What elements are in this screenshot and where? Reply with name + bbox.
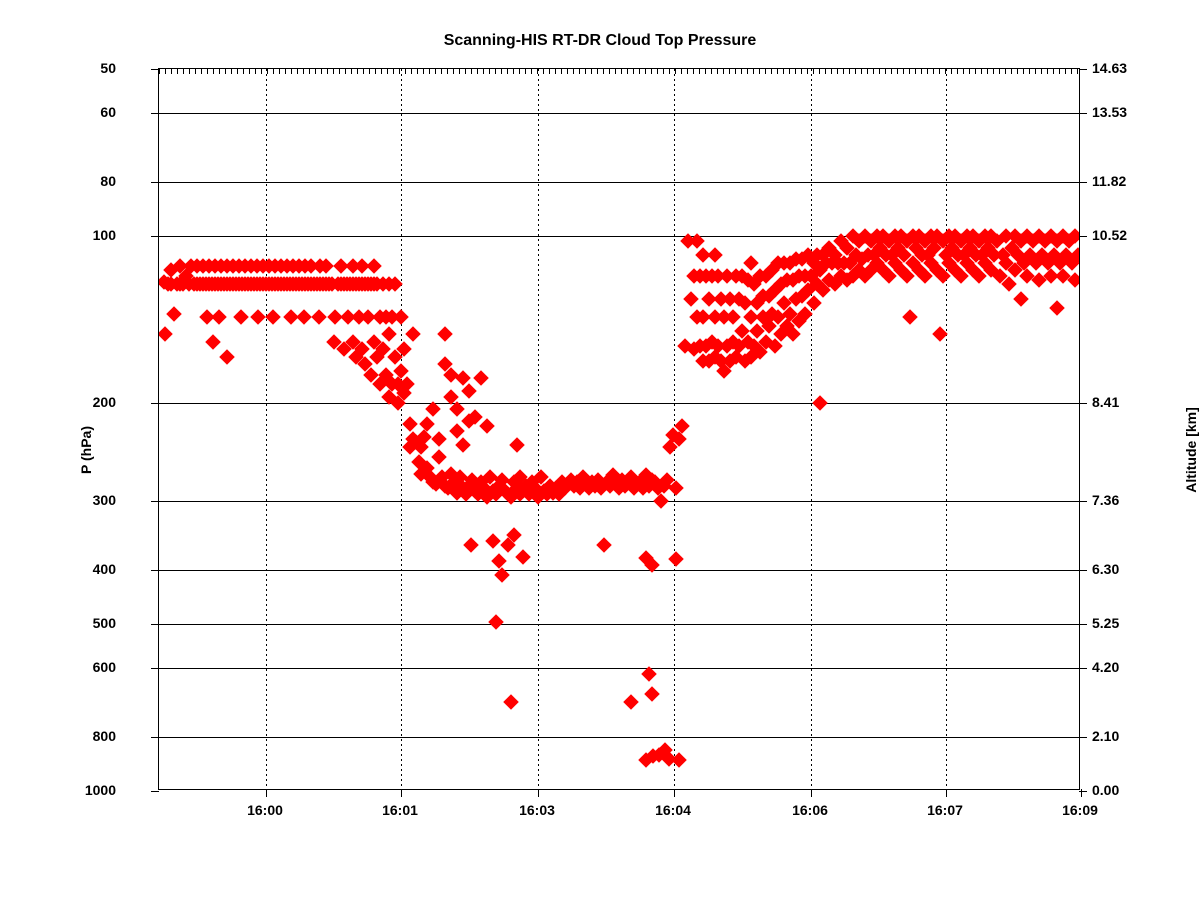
x-axis-minor-tick (429, 69, 430, 74)
x-axis-tick (674, 789, 675, 797)
x-axis-minor-tick (375, 69, 376, 74)
scatter-point (668, 551, 684, 567)
x-axis-minor-tick (933, 69, 934, 74)
y2-axis-tick (1079, 668, 1087, 669)
x-axis-minor-tick (549, 69, 550, 74)
x-axis-minor-tick (453, 69, 454, 74)
x-axis-minor-tick (525, 69, 526, 74)
x-axis-minor-tick (1029, 69, 1030, 74)
x-axis-minor-tick (231, 69, 232, 74)
x-axis-minor-tick (879, 69, 880, 74)
x-axis-minor-tick (573, 69, 574, 74)
x-axis-minor-tick (891, 69, 892, 74)
x-axis-minor-tick (741, 69, 742, 74)
x-axis-minor-tick (915, 69, 916, 74)
scatter-point (623, 694, 639, 710)
x-axis-minor-tick (1017, 69, 1018, 74)
x-axis-minor-tick (387, 69, 388, 74)
x-axis-minor-tick (939, 69, 940, 74)
y-axis-tick (151, 570, 159, 571)
y-axis-tick (151, 182, 159, 183)
x-axis-minor-tick (1005, 69, 1006, 74)
x-axis-minor-tick (225, 69, 226, 74)
scatter-point (494, 567, 510, 583)
x-axis-minor-tick (495, 69, 496, 74)
x-axis-minor-tick (693, 69, 694, 74)
x-axis-tick-label: 16:04 (655, 802, 691, 818)
x-axis-minor-tick (657, 69, 658, 74)
scatter-point (806, 295, 822, 311)
chart-figure: Scanning-HIS RT-DR Cloud Top Pressure P … (0, 0, 1200, 900)
x-axis-minor-tick (459, 69, 460, 74)
y-axis-tick (151, 737, 159, 738)
scatter-point (265, 309, 281, 325)
x-axis-minor-tick (1065, 69, 1066, 74)
scatter-point (431, 449, 447, 465)
x-axis-minor-tick (435, 69, 436, 74)
x-axis-minor-tick (957, 69, 958, 74)
x-axis-minor-tick (237, 69, 238, 74)
y-axis-tick-label: 50 (100, 60, 116, 76)
y2-axis-tick-label: 0.00 (1092, 782, 1119, 798)
x-axis-minor-tick (279, 69, 280, 74)
y2-axis-title: Altitude [km] (1183, 407, 1199, 493)
scatter-point (463, 537, 479, 553)
x-axis-minor-tick (753, 69, 754, 74)
x-axis-minor-tick (1011, 69, 1012, 74)
x-axis-minor-tick (717, 69, 718, 74)
scatter-point (644, 687, 660, 703)
x-axis-minor-tick (765, 69, 766, 74)
chart-title: Scanning-HIS RT-DR Cloud Top Pressure (0, 32, 1200, 50)
x-axis-minor-tick (987, 69, 988, 74)
y-axis-tick (151, 69, 159, 70)
x-axis-minor-tick (651, 69, 652, 74)
x-axis-minor-tick (969, 69, 970, 74)
y2-axis-tick-label: 13.53 (1092, 104, 1127, 120)
x-axis-minor-tick (201, 69, 202, 74)
x-axis-minor-tick (807, 69, 808, 74)
y2-axis-tick (1079, 236, 1087, 237)
scatter-point (1013, 292, 1029, 308)
x-axis-tick-label: 16:09 (1062, 802, 1098, 818)
x-axis-tick (1081, 789, 1082, 797)
x-axis-minor-tick (345, 69, 346, 74)
x-axis-tick-label: 16:03 (519, 802, 555, 818)
x-axis-minor-tick (1077, 69, 1078, 74)
x-axis-tick (538, 789, 539, 797)
x-axis-minor-tick (285, 69, 286, 74)
x-axis-minor-tick (303, 69, 304, 74)
x-axis-tick (401, 789, 402, 797)
scatter-point (402, 416, 418, 432)
y-axis-tick-label: 800 (93, 728, 116, 744)
x-axis-minor-tick (801, 69, 802, 74)
x-axis-minor-tick (165, 69, 166, 74)
x-axis-minor-tick (411, 69, 412, 74)
y2-axis-tick (1079, 403, 1087, 404)
x-axis-minor-tick (903, 69, 904, 74)
scatter-point (932, 326, 948, 342)
x-axis-minor-tick (339, 69, 340, 74)
scatter-point (405, 326, 421, 342)
x-axis-minor-tick (591, 69, 592, 74)
x-axis-minor-tick (579, 69, 580, 74)
x-axis-tick-label: 16:06 (792, 802, 828, 818)
y-axis-title: P (hPa) (78, 426, 94, 474)
x-axis-minor-tick (705, 69, 706, 74)
x-axis-tick (811, 789, 812, 797)
x-axis-minor-tick (777, 69, 778, 74)
x-axis-minor-tick (351, 69, 352, 74)
scatter-point (366, 258, 382, 274)
scatter-point (653, 493, 669, 509)
y-axis-tick-label: 100 (93, 227, 116, 243)
x-axis-minor-tick (501, 69, 502, 74)
scatter-point (725, 309, 741, 325)
scatter-point (902, 309, 918, 325)
x-axis-minor-tick (507, 69, 508, 74)
x-axis-minor-tick (489, 69, 490, 74)
y2-axis-tick (1079, 69, 1087, 70)
y2-axis-tick-label: 8.41 (1092, 394, 1119, 410)
x-axis-minor-tick (447, 69, 448, 74)
y-axis-tick-label: 300 (93, 492, 116, 508)
x-axis-minor-tick (357, 69, 358, 74)
scatter-point (485, 534, 501, 550)
x-axis-minor-tick (699, 69, 700, 74)
x-axis-minor-tick (171, 69, 172, 74)
scatter-point (488, 614, 504, 630)
x-axis-minor-tick (861, 69, 862, 74)
y-axis-tick-label: 60 (100, 104, 116, 120)
scatter-point (381, 326, 397, 342)
x-axis-minor-tick (519, 69, 520, 74)
x-axis-minor-tick (993, 69, 994, 74)
x-axis-minor-tick (369, 69, 370, 74)
x-axis-minor-tick (873, 69, 874, 74)
scatter-point (437, 326, 453, 342)
y2-axis-tick (1079, 113, 1087, 114)
scatter-point (743, 256, 759, 272)
x-axis-minor-tick (771, 69, 772, 74)
y-axis-tick (151, 403, 159, 404)
x-axis-minor-tick (1023, 69, 1024, 74)
scatter-point (211, 309, 227, 325)
x-axis-minor-tick (315, 69, 316, 74)
scatter-point (393, 309, 409, 325)
x-axis-minor-tick (831, 69, 832, 74)
y2-axis-tick (1079, 182, 1087, 183)
plot-area (158, 68, 1080, 790)
y2-axis-tick (1079, 570, 1087, 571)
x-axis-minor-tick (207, 69, 208, 74)
x-axis-minor-tick (261, 69, 262, 74)
x-axis-minor-tick (819, 69, 820, 74)
x-axis-minor-tick (621, 69, 622, 74)
x-axis-minor-tick (615, 69, 616, 74)
scatter-point (296, 309, 312, 325)
x-axis-minor-tick (243, 69, 244, 74)
y2-axis-tick-label: 4.20 (1092, 659, 1119, 675)
x-axis-minor-tick (951, 69, 952, 74)
scatter-point (596, 537, 612, 553)
y2-axis-tick (1079, 501, 1087, 502)
scatter-point (455, 437, 471, 453)
scatter-point (503, 694, 519, 710)
scatter-point (683, 292, 699, 308)
scatter-point (425, 401, 441, 417)
scatter-point (509, 437, 525, 453)
x-axis-minor-tick (687, 69, 688, 74)
y-axis-tick-label: 80 (100, 173, 116, 189)
x-axis-minor-tick (399, 69, 400, 74)
x-axis-minor-tick (249, 69, 250, 74)
x-axis-minor-tick (597, 69, 598, 74)
scatter-point (419, 416, 435, 432)
y2-axis-tick-label: 6.30 (1092, 561, 1119, 577)
y-axis-tick-label: 400 (93, 561, 116, 577)
scatter-point (431, 431, 447, 447)
x-axis-minor-tick (723, 69, 724, 74)
x-axis-tick-label: 16:00 (247, 802, 283, 818)
x-axis-minor-tick (897, 69, 898, 74)
scatter-point (641, 666, 657, 682)
y2-axis-tick-label: 14.63 (1092, 60, 1127, 76)
x-axis-minor-tick (195, 69, 196, 74)
x-axis-minor-tick (381, 69, 382, 74)
y2-axis-tick-label: 11.82 (1092, 173, 1126, 189)
scatter-point (515, 549, 531, 565)
scatter-point (479, 418, 495, 434)
scatter-point (205, 334, 221, 350)
x-axis-minor-tick (273, 69, 274, 74)
x-axis-minor-tick (795, 69, 796, 74)
x-axis-minor-tick (675, 69, 676, 74)
y2-axis-tick-label: 10.52 (1092, 227, 1127, 243)
x-axis-minor-tick (849, 69, 850, 74)
x-axis-minor-tick (1053, 69, 1054, 74)
y-axis-tick-label: 1000 (85, 782, 116, 798)
x-axis-minor-tick (393, 69, 394, 74)
x-axis-minor-tick (309, 69, 310, 74)
x-axis-minor-tick (267, 69, 268, 74)
x-axis-minor-tick (363, 69, 364, 74)
x-axis-minor-tick (855, 69, 856, 74)
y-axis-tick (151, 624, 159, 625)
x-axis-minor-tick (867, 69, 868, 74)
scatter-point (233, 309, 249, 325)
scatter-point (812, 395, 828, 411)
x-axis-minor-tick (465, 69, 466, 74)
scatter-point (159, 326, 173, 342)
y-axis-tick (151, 236, 159, 237)
scatter-point (219, 349, 235, 365)
x-axis-minor-tick (513, 69, 514, 74)
x-axis-minor-tick (1041, 69, 1042, 74)
x-axis-minor-tick (333, 69, 334, 74)
x-axis-minor-tick (417, 69, 418, 74)
x-axis-minor-tick (711, 69, 712, 74)
x-axis-tick (266, 789, 267, 797)
x-axis-minor-tick (405, 69, 406, 74)
x-axis-minor-tick (645, 69, 646, 74)
x-axis-minor-tick (291, 69, 292, 74)
x-axis-minor-tick (759, 69, 760, 74)
y-axis-tick-label: 500 (93, 615, 116, 631)
scatter-point (1049, 301, 1065, 317)
x-axis-minor-tick (471, 69, 472, 74)
y-axis-tick-label: 600 (93, 659, 116, 675)
x-axis-minor-tick (297, 69, 298, 74)
scatter-point (473, 370, 489, 386)
x-axis-minor-tick (921, 69, 922, 74)
x-axis-tick-label: 16:07 (927, 802, 963, 818)
x-axis-minor-tick (735, 69, 736, 74)
x-axis-minor-tick (639, 69, 640, 74)
x-axis-minor-tick (555, 69, 556, 74)
x-axis-minor-tick (567, 69, 568, 74)
x-axis-minor-tick (975, 69, 976, 74)
x-axis-minor-tick (483, 69, 484, 74)
x-axis-minor-tick (783, 69, 784, 74)
x-axis-minor-tick (213, 69, 214, 74)
scatter-point (491, 553, 507, 569)
y-axis-tick (151, 113, 159, 114)
scatter-point (461, 383, 477, 399)
x-axis-minor-tick (219, 69, 220, 74)
y2-axis-tick-label: 7.36 (1092, 492, 1119, 508)
x-axis-minor-tick (945, 69, 946, 74)
x-axis-minor-tick (981, 69, 982, 74)
x-axis-minor-tick (159, 69, 160, 74)
x-axis-minor-tick (441, 69, 442, 74)
x-axis-minor-tick (927, 69, 928, 74)
x-axis-minor-tick (183, 69, 184, 74)
x-axis-minor-tick (255, 69, 256, 74)
x-axis-minor-tick (543, 69, 544, 74)
x-axis-minor-tick (321, 69, 322, 74)
x-axis-minor-tick (603, 69, 604, 74)
x-axis-minor-tick (813, 69, 814, 74)
y-axis-tick-label: 200 (93, 394, 116, 410)
x-axis-minor-tick (999, 69, 1000, 74)
y-axis-tick (151, 668, 159, 669)
y2-axis-tick (1079, 624, 1087, 625)
x-axis-minor-tick (885, 69, 886, 74)
x-axis-minor-tick (1071, 69, 1072, 74)
x-axis-minor-tick (909, 69, 910, 74)
x-axis-minor-tick (663, 69, 664, 74)
y-axis-tick (151, 501, 159, 502)
x-axis-minor-tick (477, 69, 478, 74)
scatter-point (311, 309, 327, 325)
x-axis-minor-tick (843, 69, 844, 74)
x-axis-minor-tick (189, 69, 190, 74)
x-axis-minor-tick (1035, 69, 1036, 74)
x-axis-minor-tick (1047, 69, 1048, 74)
x-axis-tick (946, 789, 947, 797)
x-axis-minor-tick (423, 69, 424, 74)
x-axis-minor-tick (585, 69, 586, 74)
x-axis-minor-tick (825, 69, 826, 74)
x-axis-minor-tick (609, 69, 610, 74)
x-axis-minor-tick (561, 69, 562, 74)
scatter-point (250, 309, 266, 325)
x-axis-minor-tick (729, 69, 730, 74)
x-axis-minor-tick (633, 69, 634, 74)
x-axis-minor-tick (177, 69, 178, 74)
scatter-point (166, 306, 182, 322)
x-axis-minor-tick (747, 69, 748, 74)
x-axis-minor-tick (327, 69, 328, 74)
x-axis-minor-tick (669, 69, 670, 74)
scatter-points-layer (159, 69, 1079, 789)
y2-axis-tick-label: 2.10 (1092, 728, 1119, 744)
x-axis-minor-tick (681, 69, 682, 74)
scatter-point (671, 752, 687, 768)
x-axis-minor-tick (627, 69, 628, 74)
x-axis-minor-tick (963, 69, 964, 74)
y-axis-tick (151, 791, 159, 792)
x-axis-minor-tick (789, 69, 790, 74)
x-axis-tick-label: 16:01 (382, 802, 418, 818)
scatter-point (707, 247, 723, 263)
x-axis-minor-tick (531, 69, 532, 74)
x-axis-minor-tick (837, 69, 838, 74)
y2-axis-tick (1079, 737, 1087, 738)
x-axis-minor-tick (537, 69, 538, 74)
x-axis-minor-tick (1059, 69, 1060, 74)
y2-axis-tick-label: 5.25 (1092, 615, 1119, 631)
